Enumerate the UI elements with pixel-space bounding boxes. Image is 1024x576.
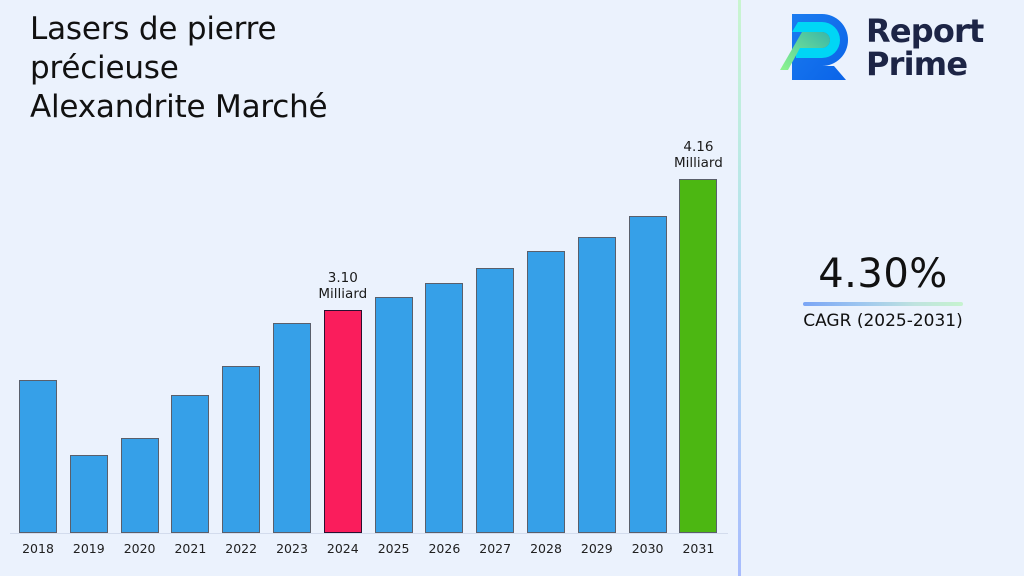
bar-group: 4.16 Milliard2031 — [679, 0, 717, 576]
bar-group: 2030 — [629, 0, 667, 576]
chart-panel: Lasers de pierre précieuse Alexandrite M… — [0, 0, 738, 576]
bar-2029[interactable] — [578, 237, 616, 533]
bar-2031[interactable] — [679, 179, 717, 533]
bar-group: 2018 — [19, 0, 57, 576]
bar-group: 2027 — [476, 0, 514, 576]
bar-group: 2020 — [121, 0, 159, 576]
report-prime-logo-icon — [778, 8, 854, 88]
bar-2028[interactable] — [527, 251, 565, 533]
bar-2025[interactable] — [375, 297, 413, 533]
x-axis-line — [10, 533, 728, 534]
bar-2024[interactable] — [324, 310, 362, 533]
bar-2026[interactable] — [425, 283, 463, 533]
screenshot-canvas: Lasers de pierre précieuse Alexandrite M… — [0, 0, 1024, 576]
sidebar-panel: Report Prime 4.30% CAGR (2025-2031) — [742, 0, 1024, 576]
bar-group: 2029 — [578, 0, 616, 576]
cagr-block: 4.30% CAGR (2025-2031) — [742, 252, 1024, 332]
cagr-label: CAGR (2025-2031) — [742, 310, 1024, 332]
bar-2018[interactable] — [19, 380, 57, 533]
bar-group: 2026 — [425, 0, 463, 576]
bar-value-label-2031: 4.16 Milliard — [650, 139, 746, 171]
bar-2021[interactable] — [171, 395, 209, 533]
bar-2019[interactable] — [70, 455, 108, 533]
bar-group: 2021 — [171, 0, 209, 576]
cagr-value: 4.30% — [742, 252, 1024, 296]
brand-logo[interactable]: Report Prime — [778, 8, 984, 88]
bar-2027[interactable] — [476, 268, 514, 533]
bar-2022[interactable] — [222, 366, 260, 533]
panel-divider — [738, 0, 741, 576]
bar-2030[interactable] — [629, 216, 667, 533]
bar-group: 3.10 Milliard2024 — [324, 0, 362, 576]
brand-name: Report Prime — [866, 15, 984, 81]
bar-group: 2022 — [222, 0, 260, 576]
cagr-divider — [803, 302, 963, 306]
bar-2023[interactable] — [273, 323, 311, 533]
bar-group: 2025 — [375, 0, 413, 576]
x-axis-tick-2031: 2031 — [668, 541, 728, 556]
bar-group: 2028 — [527, 0, 565, 576]
bar-group: 2019 — [70, 0, 108, 576]
bar-2020[interactable] — [121, 438, 159, 533]
bar-chart-plot: 2018201920202021202220233.10 Milliard202… — [0, 0, 738, 576]
